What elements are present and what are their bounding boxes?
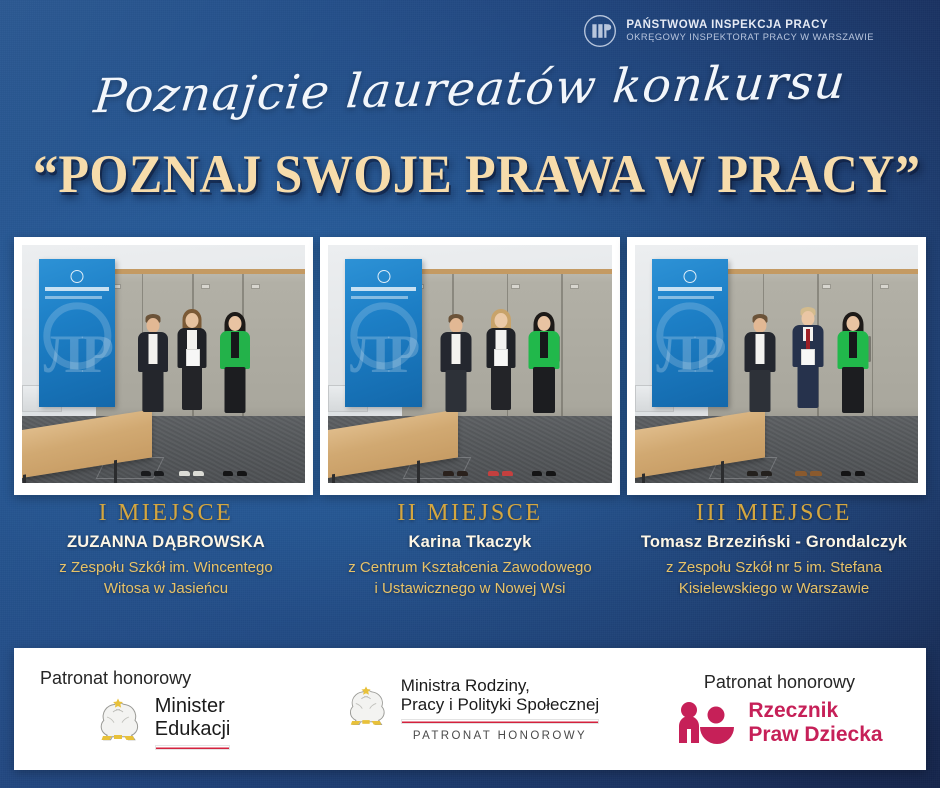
- winner-school-line-1: z Zespołu Szkół im. Wincentego: [20, 557, 312, 578]
- winner-entry-1: I MIEJSCE ZUZANNA DĄBROWSKA z Zespołu Sz…: [14, 500, 318, 600]
- winner-entry-3: III MIEJSCE Tomasz Brzeziński - Grondalc…: [622, 500, 926, 600]
- brand-title: PAŃSTWOWA INSPEKCJA PRACY: [626, 19, 874, 33]
- winner-name: Karina Tkaczyk: [324, 533, 616, 552]
- place-label: II MIEJSCE: [324, 500, 616, 527]
- polish-eagle-emblem-icon: [91, 695, 145, 751]
- person-figure: [169, 309, 215, 476]
- winner-name: ZUZANNA DĄBROWSKA: [20, 533, 312, 552]
- winner-entry-2: II MIEJSCE Karina Tkaczyk z Centrum Kszt…: [318, 500, 622, 600]
- photo-strip: ЛР: [14, 237, 926, 495]
- polish-flag-bar: [155, 745, 231, 750]
- polish-eagle-emblem-icon: [341, 683, 391, 735]
- person-figure: [830, 312, 876, 476]
- patron-name-line-1: Minister: [155, 695, 231, 717]
- photo-card-first-place: ЛР: [14, 237, 313, 495]
- person-figure: [478, 309, 524, 476]
- photo-card-second-place: ЛР: [320, 237, 619, 495]
- patron-label: Patronat honorowy: [40, 668, 191, 689]
- pip-circle-logo-icon: [583, 14, 617, 48]
- winner-school-line-2: Witosa w Jasieńcu: [20, 578, 312, 599]
- patron-name-line-1: Ministra Rodziny,: [401, 676, 599, 695]
- patronage-bar: Patronat honorowy Minister Edukacji: [14, 648, 926, 770]
- page-title: “POZNAJ SWOJE PRAWA W PRACY”: [33, 143, 907, 205]
- winner-photo-2: ЛР: [328, 245, 611, 483]
- patron-caption: PATRONAT HONOROWY: [401, 730, 599, 742]
- place-label: III MIEJSCE: [628, 500, 920, 527]
- person-figure: [212, 312, 258, 476]
- place-label: I MIEJSCE: [20, 500, 312, 527]
- brand-subtitle: OKRĘGOWY INSPEKTORAT PRACY W WARSZAWIE: [626, 32, 874, 43]
- patron-label: Patronat honorowy: [704, 672, 855, 693]
- pip-rollup-banner: ЛР: [39, 259, 115, 407]
- pip-rollup-banner: ЛР: [652, 259, 728, 407]
- patron-rzecznik-praw-dziecka: Patronat honorowy Rzecznik Praw Dziecka: [633, 648, 926, 770]
- winner-school-line-1: z Centrum Kształcenia Zawodowego: [324, 557, 616, 578]
- patron-minister-edukacji: Patronat honorowy Minister Edukacji: [14, 648, 307, 770]
- pip-rollup-banner: ЛР: [345, 259, 421, 407]
- winner-school-line-2: Kisielewskiego w Warszawie: [628, 578, 920, 599]
- person-figure: [785, 307, 831, 476]
- winner-photo-1: ЛР: [22, 245, 305, 483]
- polish-flag-bar: [401, 719, 599, 724]
- winner-name: Tomasz Brzeziński - Grondalczyk: [628, 533, 920, 552]
- person-figure: [521, 312, 567, 476]
- photo-card-third-place: ЛР: [627, 237, 926, 495]
- person-figure: [433, 314, 479, 476]
- script-headline: Poznajcie laureatów konkursu: [0, 53, 940, 126]
- patron-name-line-2: Pracy i Polityki Społecznej: [401, 695, 599, 714]
- winner-school-line-2: i Ustawicznego w Nowej Wsi: [324, 578, 616, 599]
- rzecznik-praw-dziecka-figures-icon: [676, 701, 738, 745]
- winners-list: I MIEJSCE ZUZANNA DĄBROWSKA z Zespołu Sz…: [14, 500, 926, 600]
- pip-brand-header: PAŃSTWOWA INSPEKCJA PRACY OKRĘGOWY INSPE…: [583, 14, 874, 48]
- patron-name-line-1: Rzecznik: [748, 699, 882, 722]
- winner-photo-3: ЛР: [635, 245, 918, 483]
- winner-school-line-1: z Zespołu Szkół nr 5 im. Stefana: [628, 557, 920, 578]
- patron-name-line-2: Praw Dziecka: [748, 723, 882, 746]
- poster-canvas: PAŃSTWOWA INSPEKCJA PRACY OKRĘGOWY INSPE…: [0, 0, 940, 788]
- patron-name-line-2: Edukacji: [155, 718, 231, 740]
- person-figure: [737, 314, 783, 476]
- patron-ministra-rodziny: Ministra Rodziny, Pracy i Polityki Społe…: [307, 648, 633, 770]
